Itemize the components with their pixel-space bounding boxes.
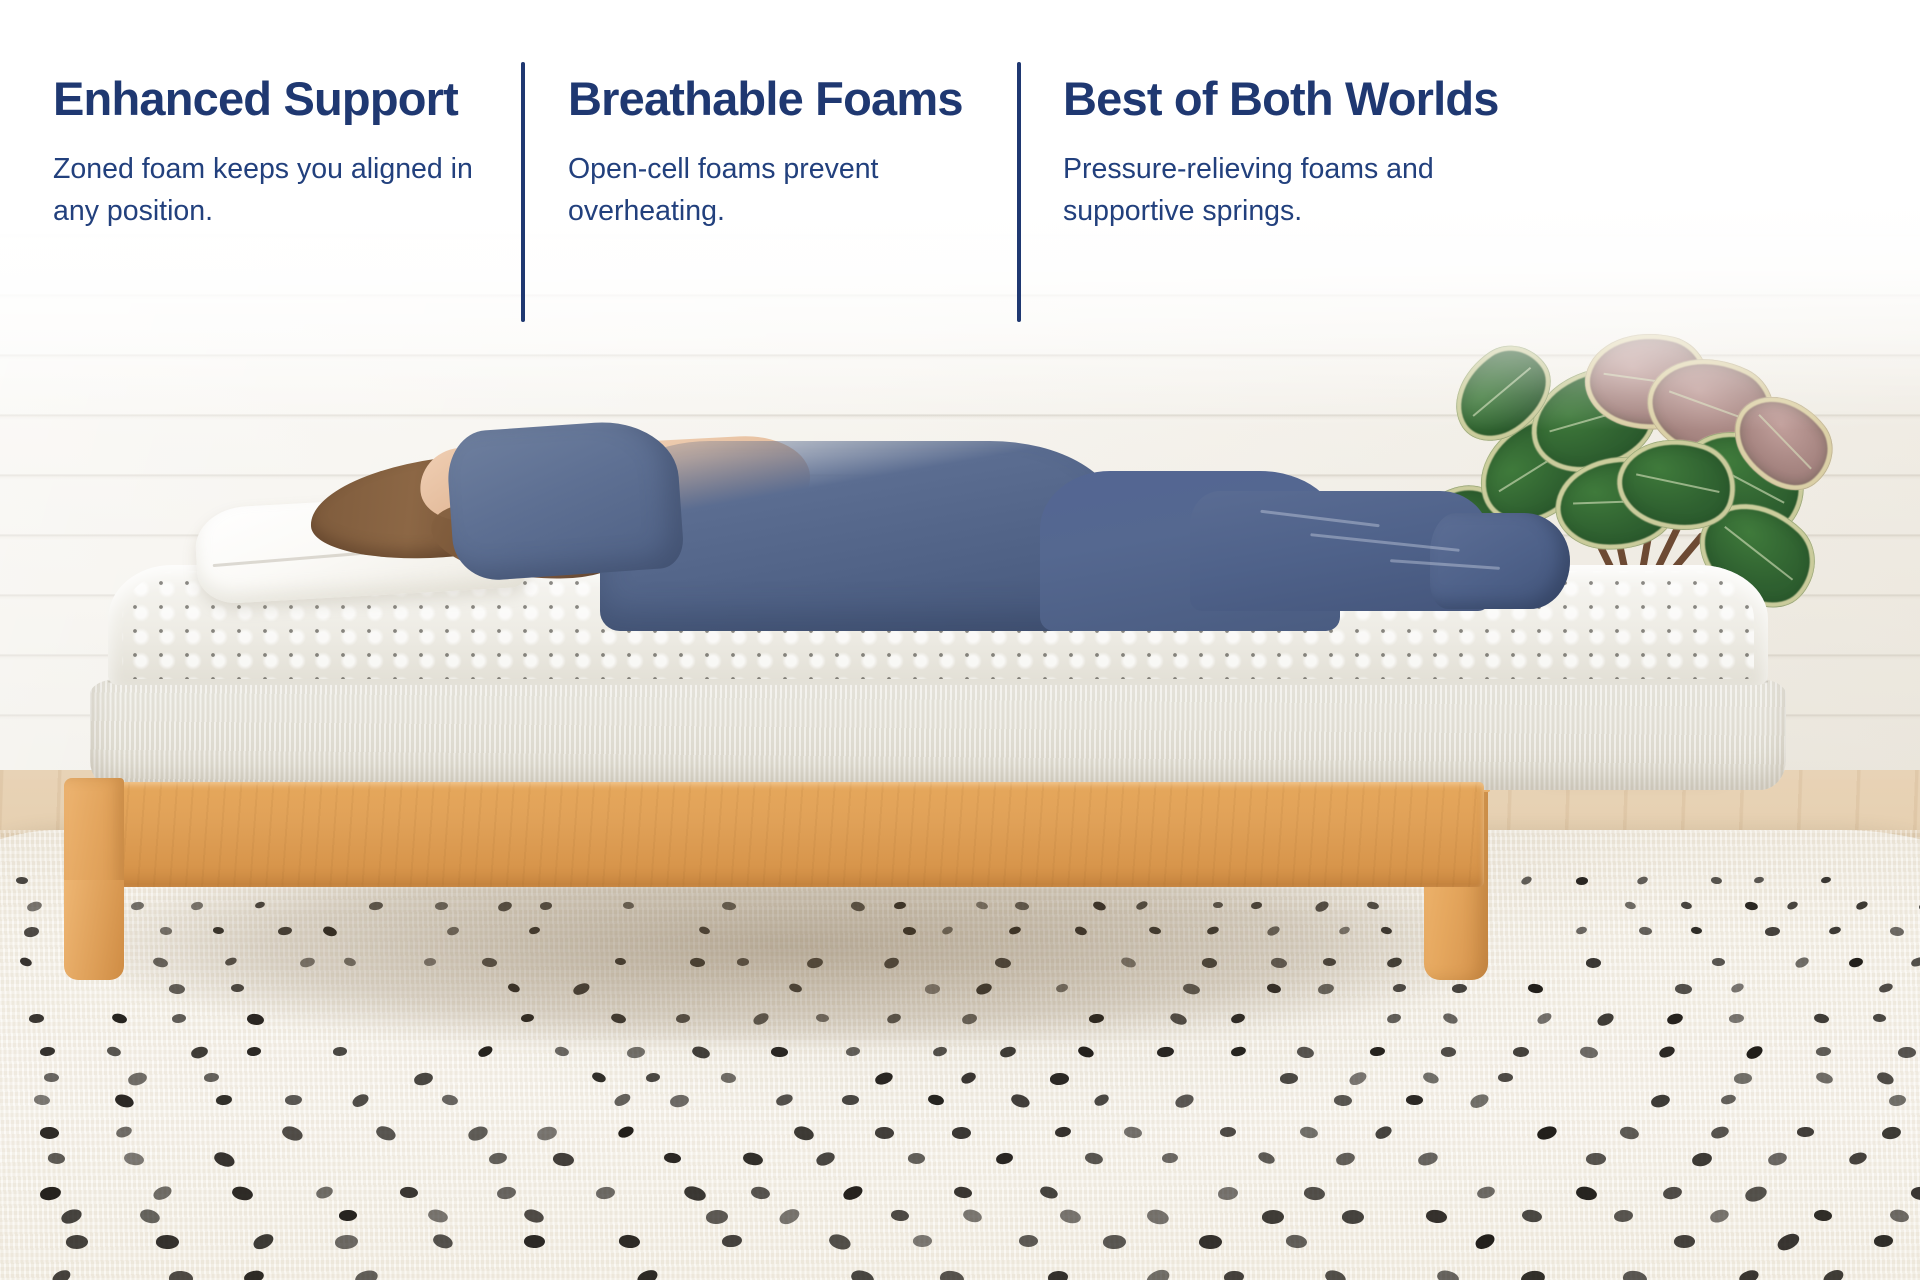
feature-body: Pressure-relieving foams and supportive … (1063, 149, 1523, 232)
bed-frame-left-leg (64, 880, 124, 980)
column-divider-2 (1017, 62, 1021, 322)
column-divider-1 (521, 62, 525, 322)
feature-columns: Enhanced Support Zoned foam keeps you al… (0, 0, 1920, 340)
reclining-person (300, 395, 1420, 625)
feature-heading: Best of Both Worlds (1063, 74, 1523, 123)
person-sleeve (445, 417, 685, 583)
feature-column-best-of-both-worlds: Best of Both Worlds Pressure-relieving f… (1063, 74, 1523, 233)
mattress-side-panel (90, 678, 1786, 790)
person-feet (1430, 513, 1570, 609)
scene-stage: Enhanced Support Zoned foam keeps you al… (0, 0, 1920, 1280)
bed-frame-side-rail (64, 782, 1484, 887)
feature-body: Open-cell foams prevent overheating. (568, 149, 1028, 232)
feature-column-enhanced-support: Enhanced Support Zoned foam keeps you al… (53, 74, 513, 233)
feature-heading: Enhanced Support (53, 74, 513, 123)
feature-body: Zoned foam keeps you aligned in any posi… (53, 149, 513, 232)
feature-column-breathable-foams: Breathable Foams Open-cell foams prevent… (568, 74, 1028, 233)
feature-heading: Breathable Foams (568, 74, 1028, 123)
